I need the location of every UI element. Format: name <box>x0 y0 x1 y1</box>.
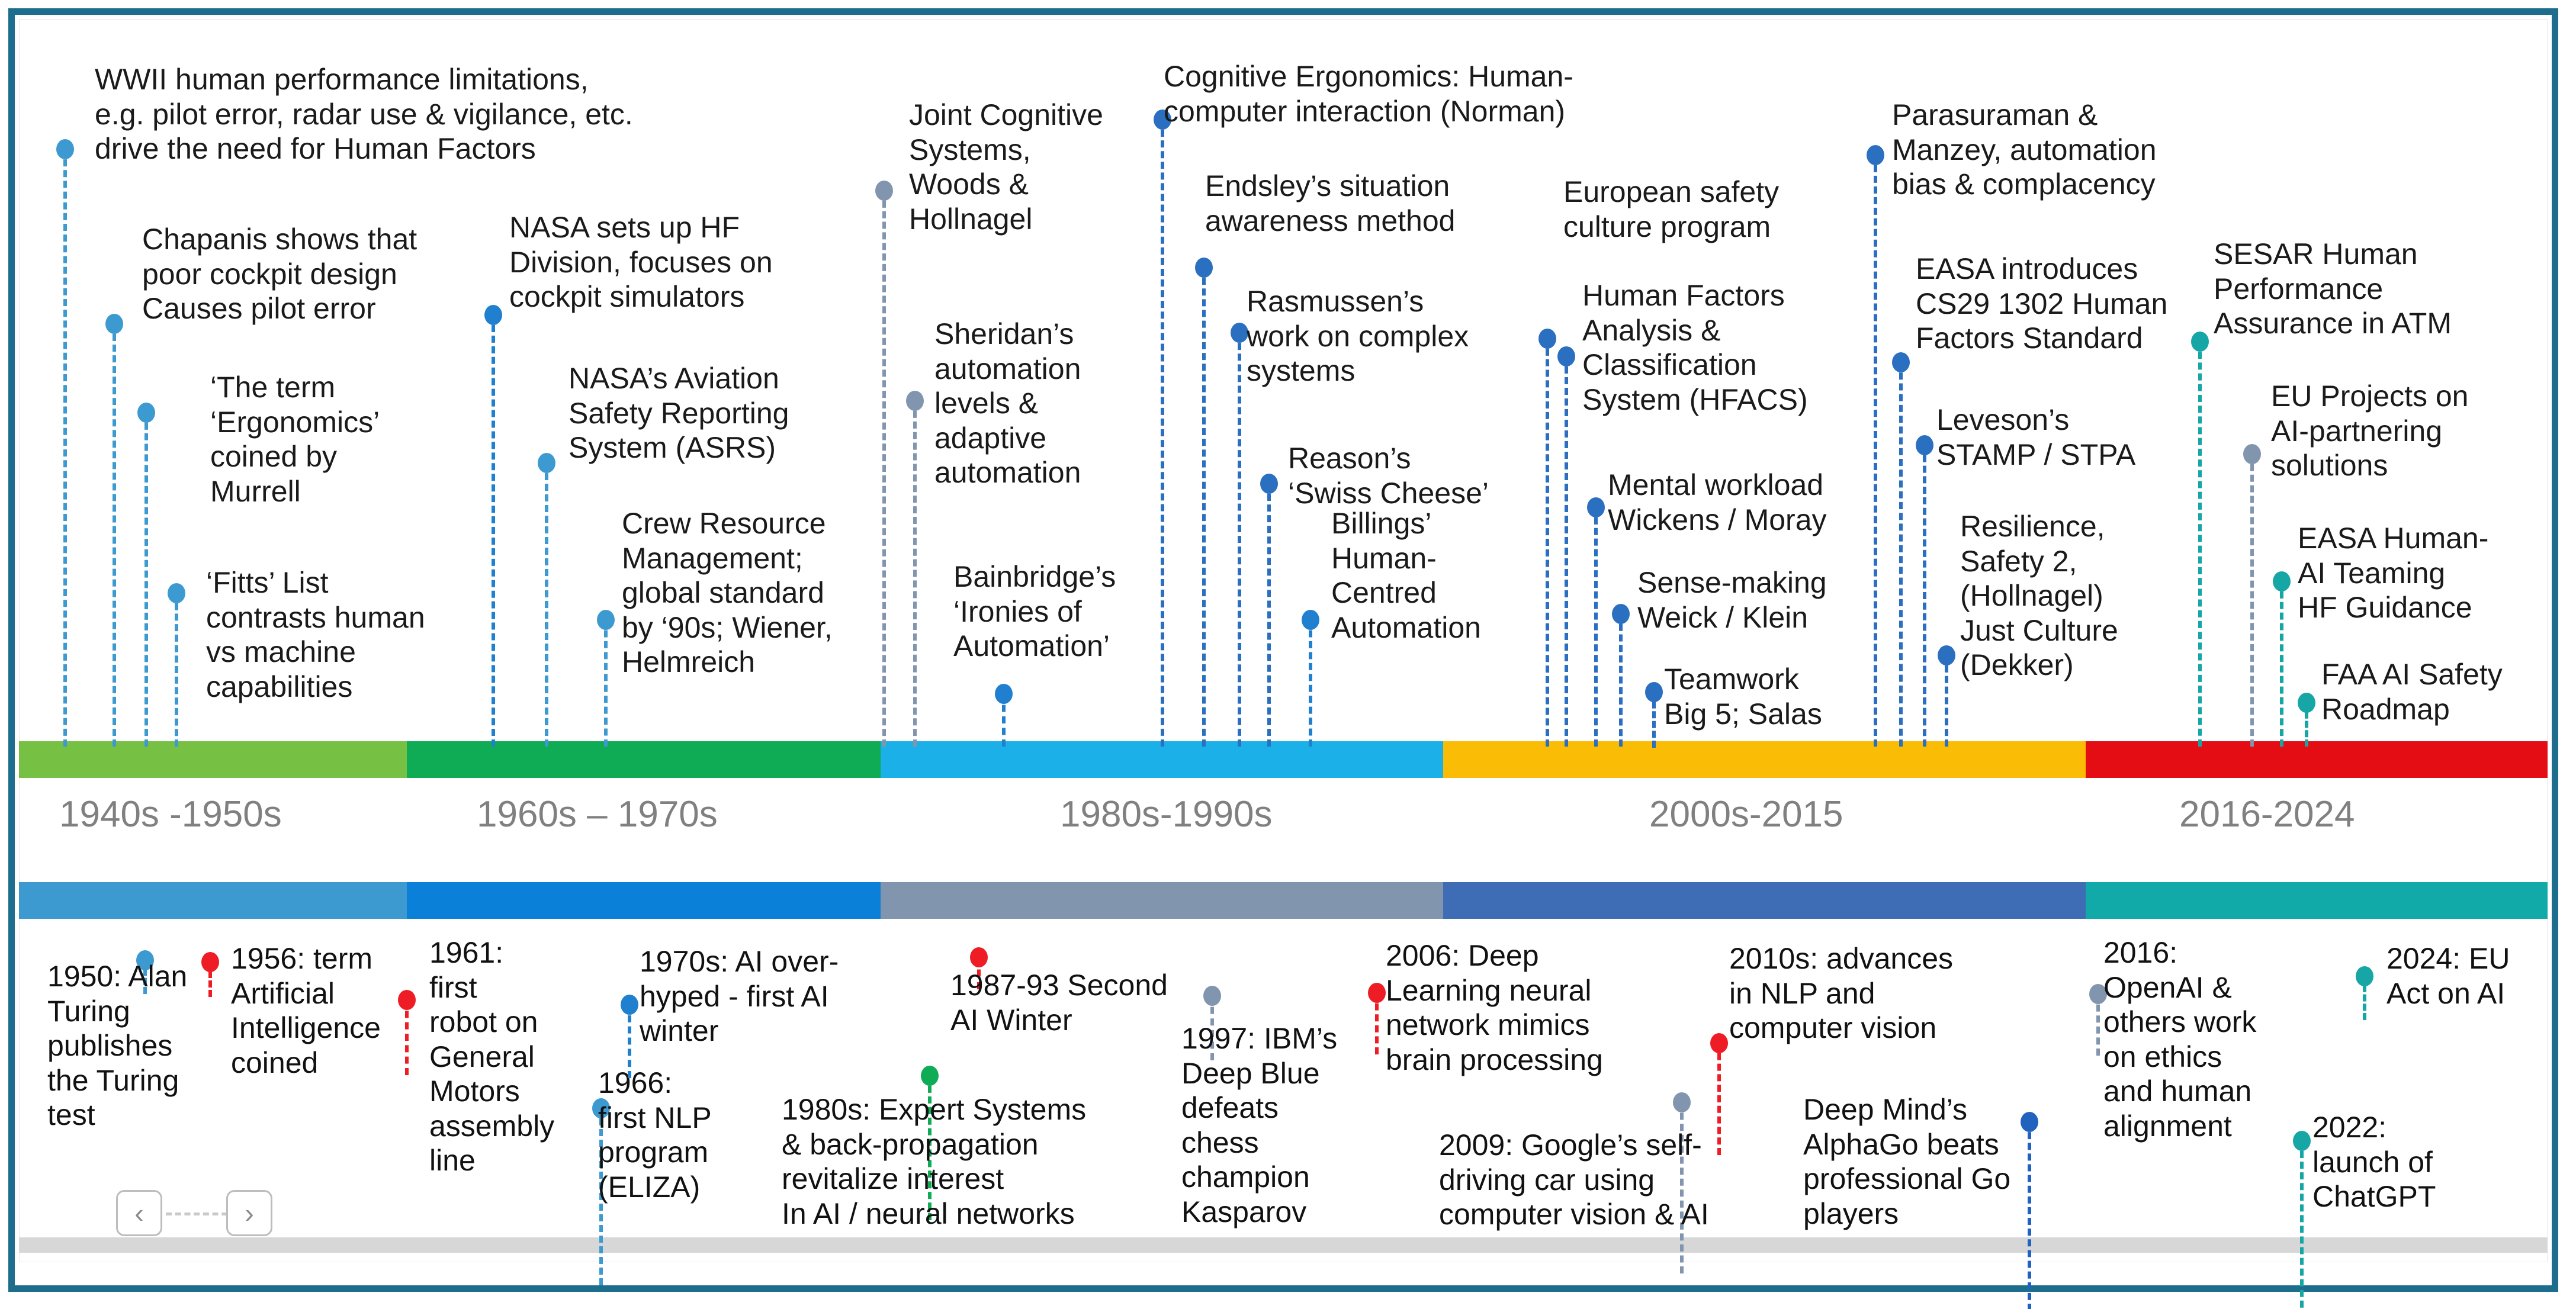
hf-event-stem <box>1594 507 1598 747</box>
hf-event-stem <box>1565 356 1568 747</box>
hf-event-marker-dot[interactable] <box>1302 610 1319 630</box>
ai-event-label: 2006: Deep Learning neural network mimic… <box>1386 938 1603 1077</box>
hf-event-stem <box>1899 362 1903 747</box>
ai-event-label: Deep Mind’s AlphaGo beats professional G… <box>1803 1092 2010 1231</box>
ai-event-marker-dot[interactable] <box>1673 1092 1691 1112</box>
hf-event-stem <box>1945 655 1948 747</box>
hf-event-marker-dot[interactable] <box>2273 571 2291 591</box>
hf-event-stem <box>913 400 917 747</box>
hf-event-marker-dot[interactable] <box>1557 346 1575 366</box>
ai-event-label: 1980s: Expert Systems & back-propagation… <box>782 1092 1086 1231</box>
ai-event-label: 2024: EU Act on AI <box>2387 941 2510 1011</box>
timeline-infographic: 1940s -1950s1960s – 1970s1980s-1990s2000… <box>0 0 2576 1309</box>
hf-event-label: Human Factors Analysis & Classification … <box>1582 278 1808 417</box>
hf-event-label: Teamwork Big 5; Salas <box>1664 662 1822 731</box>
next-icon: › <box>245 1197 253 1229</box>
ai-event-marker-dot[interactable] <box>201 952 219 972</box>
hf-event-label: Crew Resource Management; global standar… <box>622 506 833 680</box>
hf-event-label: Joint Cognitive Systems, Woods & Hollnag… <box>909 98 1103 236</box>
ai-event-marker-dot[interactable] <box>1368 983 1386 1003</box>
ai-event-marker-dot[interactable] <box>2021 1112 2038 1132</box>
ai-event-marker-dot[interactable] <box>1710 1033 1728 1053</box>
hf-event-marker-dot[interactable] <box>1195 258 1213 278</box>
hf-event-stem <box>545 462 548 747</box>
ai-event-label: 1961: first robot on General Motors asse… <box>429 935 554 1178</box>
ai-event-label: 2016: OpenAI & others work on ethics and… <box>2103 935 2256 1143</box>
ai-event-marker-dot[interactable] <box>1203 986 1221 1006</box>
hf-event-stem <box>144 412 148 747</box>
era-label: 1940s -1950s <box>59 793 282 835</box>
hf-event-marker-dot[interactable] <box>1867 145 1884 165</box>
hf-event-label: Reason’s ‘Swiss Cheese’ <box>1288 441 1489 510</box>
hf-event-marker-dot[interactable] <box>137 403 155 423</box>
ai-event-label: 1987-93 Second AI Winter <box>950 968 1168 1037</box>
hf-event-marker-dot[interactable] <box>1587 497 1605 517</box>
hf-event-stem <box>1238 332 1241 747</box>
era-bar-bottom-3[interactable] <box>1443 882 2086 919</box>
hf-event-stem <box>1267 483 1271 747</box>
hf-event-label: Sense-making Weick / Klein <box>1637 565 1827 635</box>
hf-event-stem <box>1923 445 1926 747</box>
hf-event-stem <box>113 323 116 747</box>
era-bar-top-3[interactable] <box>1443 741 2086 778</box>
hf-event-marker-dot[interactable] <box>597 610 615 630</box>
era-label: 2016-2024 <box>2179 793 2355 835</box>
hf-event-stem <box>1546 338 1549 747</box>
ai-event-stem <box>2300 1140 2304 1309</box>
ai-event-label: 1950: Alan Turing publishes the Turing t… <box>47 959 187 1133</box>
hf-event-label: EASA Human- AI Teaming HF Guidance <box>2298 521 2488 625</box>
hf-event-marker-dot[interactable] <box>1612 604 1630 624</box>
ai-event-marker-dot[interactable] <box>398 990 416 1010</box>
era-label: 1960s – 1970s <box>477 793 718 835</box>
hf-event-stem <box>1161 119 1164 747</box>
hf-event-stem <box>2250 454 2254 747</box>
hf-event-marker-dot[interactable] <box>1938 645 1955 665</box>
hf-event-marker-dot[interactable] <box>906 391 924 411</box>
hf-event-label: Billings’ Human- Centred Automation <box>1331 506 1481 645</box>
hf-event-stem <box>1309 619 1312 747</box>
hf-event-label: Leveson’s STAMP / STPA <box>1936 403 2135 472</box>
era-bar-bottom-4[interactable] <box>2086 882 2548 919</box>
hf-event-label: Mental workload Wickens / Moray <box>1608 468 1827 537</box>
hf-event-marker-dot[interactable] <box>105 314 123 334</box>
hf-event-label: ‘The term ‘Ergonomics’ coined by Murrell <box>210 370 380 509</box>
hf-event-marker-dot[interactable] <box>484 305 502 325</box>
hf-event-marker-dot[interactable] <box>1231 323 1248 343</box>
hf-event-label: Parasuraman & Manzey, automation bias & … <box>1892 98 2157 202</box>
ai-event-stem <box>405 999 409 1075</box>
ai-event-marker-dot[interactable] <box>621 995 638 1015</box>
hf-event-stem <box>882 190 886 747</box>
hf-event-marker-dot[interactable] <box>875 181 893 201</box>
hf-event-label: NASA sets up HF Division, focuses on coc… <box>509 210 773 314</box>
era-label: 2000s-2015 <box>1649 793 1843 835</box>
hf-event-label: Resilience, Safety 2, (Hollnagel) Just C… <box>1960 509 2118 683</box>
hf-event-label: Chapanis shows that poor cockpit design … <box>142 222 417 326</box>
era-bar-top-0[interactable] <box>19 741 407 778</box>
ai-event-label: 1966: first NLP program (ELIZA) <box>598 1066 712 1204</box>
hf-event-label: NASA’s Aviation Safety Reporting System … <box>568 361 789 465</box>
hf-event-marker-dot[interactable] <box>168 583 185 603</box>
ai-event-label: 2022: launch of ChatGPT <box>2312 1110 2436 1214</box>
hf-event-label: FAA AI Safety Roadmap <box>2321 657 2503 726</box>
hf-event-label: Endsley’s situation awareness method <box>1205 169 1455 238</box>
hf-event-label: Cognitive Ergonomics: Human- computer in… <box>1164 59 1573 128</box>
hf-event-stem <box>1202 267 1206 747</box>
hf-event-marker-dot[interactable] <box>2191 332 2209 352</box>
ai-event-stem <box>2028 1121 2031 1309</box>
hf-event-marker-dot[interactable] <box>995 684 1013 704</box>
hf-event-label: SESAR Human Performance Assurance in ATM <box>2214 237 2452 341</box>
next-button[interactable]: › <box>226 1190 272 1236</box>
hf-event-label: EU Projects on AI-partnering solutions <box>2271 379 2468 483</box>
ai-event-stem <box>1717 1043 1721 1155</box>
ai-event-stem <box>628 1004 631 1078</box>
era-bar-top-4[interactable] <box>2086 741 2548 778</box>
hf-event-stem <box>63 149 67 747</box>
era-bar-bottom-2[interactable] <box>881 882 1443 919</box>
ai-event-marker-dot[interactable] <box>921 1066 939 1086</box>
hf-event-marker-dot[interactable] <box>538 453 555 473</box>
hf-event-label: EASA introduces CS29 1302 Human Factors … <box>1916 252 2167 356</box>
ai-event-label: 1970s: AI over- hyped - first AI winter <box>640 944 839 1049</box>
prev-icon: ‹ <box>134 1197 143 1229</box>
era-bar-bottom-0[interactable] <box>19 882 407 919</box>
hf-event-label: European safety culture program <box>1563 175 1779 244</box>
hf-event-marker-dot[interactable] <box>1260 474 1278 494</box>
hf-event-stem <box>2280 581 2283 747</box>
bottom-shadow-strip <box>19 1237 2548 1253</box>
hf-event-stem <box>2198 341 2202 747</box>
hf-event-label: WWII human performance limitations, e.g.… <box>95 62 633 166</box>
hf-event-marker-dot[interactable] <box>56 139 74 159</box>
hf-event-marker-dot[interactable] <box>1645 682 1663 702</box>
hf-event-label: Sheridan’s automation levels & adaptive … <box>934 317 1081 490</box>
hf-event-stem <box>1874 155 1877 747</box>
hf-event-marker-dot[interactable] <box>2243 444 2261 464</box>
prev-button[interactable]: ‹ <box>116 1190 162 1236</box>
ai-event-marker-dot[interactable] <box>970 947 988 967</box>
hf-event-marker-dot[interactable] <box>2298 693 2315 713</box>
era-bar-top-2[interactable] <box>881 741 1443 778</box>
ai-event-label: 1997: IBM’s Deep Blue defeats chess cham… <box>1181 1021 1337 1229</box>
hf-event-label: Rasmussen’s work on complex systems <box>1247 284 1469 388</box>
hf-event-label: ‘Fitts’ List contrasts human vs machine … <box>206 565 425 704</box>
hf-event-stem <box>1619 613 1623 747</box>
era-bar-bottom-1[interactable] <box>407 882 881 919</box>
ai-event-label: 2010s: advances in NLP and computer visi… <box>1729 941 1953 1046</box>
ai-event-marker-dot[interactable] <box>2293 1131 2311 1151</box>
hf-event-stem <box>175 593 178 747</box>
hf-event-stem <box>604 619 608 747</box>
hf-event-marker-dot[interactable] <box>1538 329 1556 349</box>
hf-event-marker-dot[interactable] <box>1916 435 1933 455</box>
era-label: 1980s-1990s <box>1060 793 1273 835</box>
era-bar-top-1[interactable] <box>407 741 881 778</box>
hf-event-stem <box>492 314 495 747</box>
hf-event-label: Bainbridge’s ‘Ironies of Automation’ <box>953 559 1116 664</box>
ai-event-marker-dot[interactable] <box>2356 966 2373 986</box>
ai-event-label: 1956: term Artificial Intelligence coine… <box>231 941 381 1080</box>
hf-event-marker-dot[interactable] <box>1892 352 1910 372</box>
ai-event-label: 2009: Google’s self- driving car using c… <box>1439 1128 1709 1232</box>
